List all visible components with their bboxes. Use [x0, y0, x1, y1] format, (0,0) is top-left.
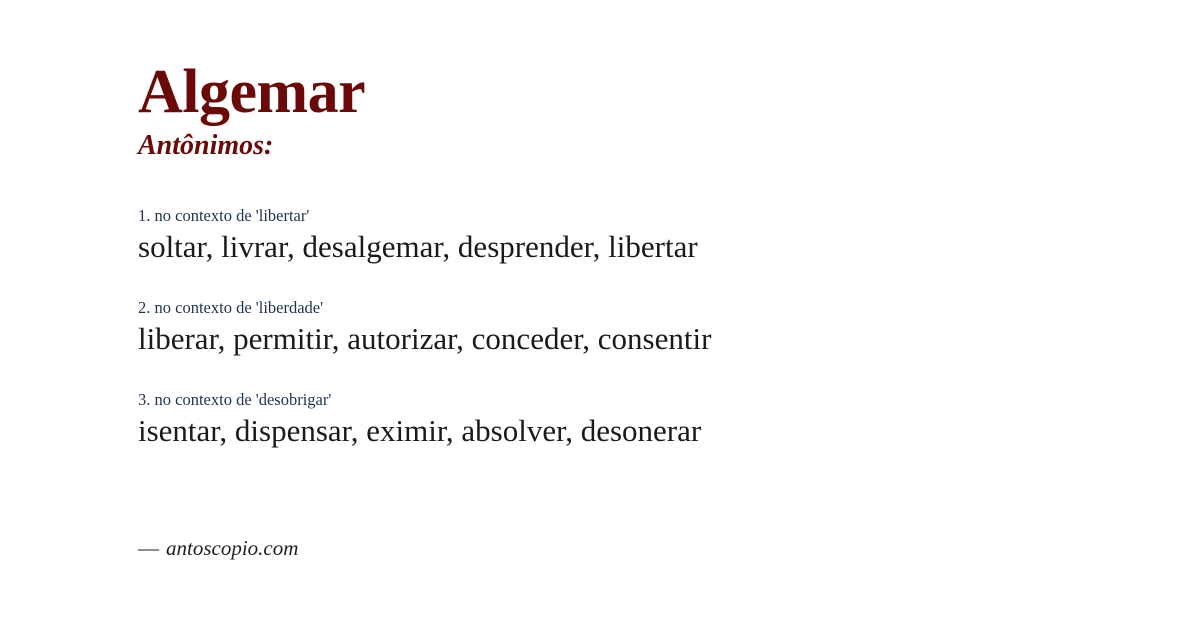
sense-list: 1. no contexto de 'libertar' soltar, liv…: [138, 205, 1138, 451]
sense-context-label: 3. no contexto de 'desobrigar': [138, 389, 1138, 411]
sense-antonyms: liberar, permitir, autorizar, conceder, …: [138, 319, 1138, 359]
section-title-antonyms: Antônimos:: [138, 131, 273, 161]
sense-antonyms: soltar, livrar, desalgemar, desprender, …: [138, 227, 1138, 267]
em-dash-icon: —: [138, 536, 166, 560]
list-item: 3. no contexto de 'desobrigar' isentar, …: [138, 389, 1138, 451]
source-name: antoscopio.com: [166, 536, 298, 560]
page-title: Algemar: [138, 61, 365, 123]
sense-context-label: 2. no contexto de 'liberdade': [138, 297, 1138, 319]
word-card: Algemar Antônimos: 1. no contexto de 'li…: [0, 0, 1200, 628]
sense-context-label: 1. no contexto de 'libertar': [138, 205, 1138, 227]
sense-antonyms: isentar, dispensar, eximir, absolver, de…: [138, 411, 1138, 451]
list-item: 2. no contexto de 'liberdade' liberar, p…: [138, 297, 1138, 359]
source-attribution: —antoscopio.com: [138, 534, 298, 562]
list-item: 1. no contexto de 'libertar' soltar, liv…: [138, 205, 1138, 267]
